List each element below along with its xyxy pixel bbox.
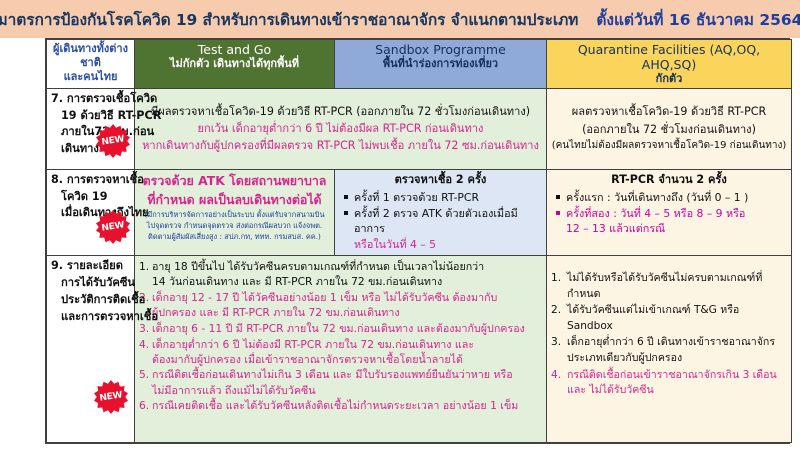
row-7-tng-line-2: ยกเว้น เด็กอายุต่ำกว่า 6 ปี ไม่ต้องมีผล … [139, 121, 542, 137]
header-sandbox: Sandbox Programme พื้นที่นำร่องการท่องเท… [335, 40, 547, 89]
row-8-quarantine: RT-PCR จำนวน 2 ครั้ง ครั้งแรก : วันที่เด… [547, 169, 792, 255]
row-9-item-5-line-2: ไม่มีอาการแล้ว ถึงแม้ไม่ได้รับวัคซีน [152, 383, 542, 398]
row-8-tng-head-2: ที่กำหนด ผลเป็นลบเดินทางต่อได้ [139, 191, 330, 209]
row-9-item-4: 4. เด็กอายุต่ำกว่า 6 ปี ไม่ต้องมี RT-PCR… [139, 337, 542, 367]
row-8-qua-item-2-tail: 12 – 13 แล้วแต่กรณี [566, 221, 787, 236]
row-9-qua-item-2-number: 2. [551, 303, 567, 319]
row-8-qua-item-2: ครั้งที่สอง : วันที่ 4 – 5 หรือ 8 – 9 หร… [555, 206, 787, 237]
row-9-item-3: 3. เด็กอายุ 6 - 11 ปี มี RT-PCR ภายใน 72… [139, 321, 542, 336]
effective-date: ตั้งแต่วันที่ 16 ธันวาคม 2564 [596, 7, 800, 32]
header-test-and-go-th: ไม่กักตัว เดินทางได้ทุกพื้นที่ [139, 57, 330, 71]
row-7-quarantine: ผลตรวจหาเชื้อโควิด-19 ด้วยวิธี RT-PCR (อ… [547, 88, 792, 169]
row-8-tng-fine-3: ติดตามผู้สัมผัสเสี่ยงสูง : สปภ.กท, ททท. … [139, 232, 330, 242]
row-7-label-line-1: 7. การตรวจเชื้อโควิด [51, 91, 130, 108]
row-9-qua-item-4-line-1: กรณีติดเชื้อก่อนเข้าราชอาณาจักรเกิน 3 เด… [567, 368, 787, 384]
table-body: 7. การตรวจเชื้อโควิด 19 ด้วยวิธี RT-PCR … [47, 88, 792, 442]
row-9-item-1: 1. อายุ 18 ปีขึ้นไป ได้รับวัคซีนครบตามเก… [139, 259, 542, 289]
row-9-item-4-line-2: ต้องมากับผู้ปกครอง เมื่อเข้าราชอาณาจักรต… [152, 352, 542, 367]
row-8-tng-fine-2: ไปจุดตรวจ กำหนดจุดตรวจ ส่งต่อกรณีผลบวก แ… [139, 221, 330, 231]
row-7-label-line-2: 19 ด้วยวิธี RT-PCR [51, 108, 130, 125]
header-quarantine-th: กักตัว [551, 72, 787, 86]
row-9-item-1-text: อายุ 18 ปีขึ้นไป ได้รับวัคซีนครบตามเกณฑ์… [152, 259, 542, 289]
header-traveler-category: ผู้เดินทางทั้งต่างชาติ และคนไทย [47, 40, 135, 89]
row-9-label-line-3: ประวัติการติดเชื้อ [51, 292, 130, 309]
row-9-item-2-line-1: เด็กอายุ 12 - 17 ปี ได้วัคซีนอย่างน้อย 1… [152, 290, 542, 305]
row-9-qua-item-2-line-1: ได้รับวัคซีนแต่ไม่เข้าเกณฑ์ T&G หรือ [567, 303, 787, 319]
row-9-item-1-line-1: อายุ 18 ปีขึ้นไป ได้รับวัคซีนครบตามเกณฑ์… [152, 259, 542, 274]
table-row-8: 8. การตรวจหาเชื้อ โควิด 19 เมื่อเดินทางถ… [47, 169, 792, 255]
row-9-label-line-2: การได้รับวัคซีน [51, 275, 130, 292]
row-7-tng-line-1: มีผลตรวจหาเชื้อโควิด-19 ด้วยวิธี RT-PCR … [139, 104, 542, 120]
row-9-qua-item-3-line-1: เด็กอายุต่ำกว่า 6 ปี เดินทางเข้าราชอาณาจ… [567, 335, 787, 351]
row-9-label: 9. รายละเอียด การได้รับวัคซีน ประวัติการ… [47, 256, 135, 443]
row-8-sbx-head: ตรวจหาเชื้อ 2 ครั้ง [339, 172, 542, 188]
row-8-quarantine-list: ครั้งแรก : วันที่เดินทางถึง (วันที่ 0 – … [551, 190, 787, 237]
row-9-item-3-number: 3. [139, 321, 152, 336]
row-9-qua-item-2-text: ได้รับวัคซีนแต่ไม่เข้าเกณฑ์ T&G หรือ San… [567, 303, 787, 334]
row-9-item-3-text: เด็กอายุ 6 - 11 ปี มี RT-PCR ภายใน 72 ขม… [152, 321, 542, 336]
row-9-item-5-number: 5. [139, 367, 152, 382]
header-row: ผู้เดินทางทั้งต่างชาติ และคนไทย Test and… [47, 40, 792, 89]
row-8-sandbox-list: ครั้งที่ 1 ตรวจด้วย RT-PCR ครั้งที่ 2 ตร… [339, 190, 542, 252]
measures-table-wrapper: ผู้เดินทางทั้งต่างชาติ และคนไทย Test and… [45, 38, 790, 444]
row-9-qua-item-3-text: เด็กอายุต่ำกว่า 6 ปี เดินทางเข้าราชอาณาจ… [567, 335, 787, 366]
row-8-qua-item-2-text: ครั้งที่สอง : วันที่ 4 – 5 หรือ 8 – 9 หร… [566, 207, 745, 220]
row-7-qua-line-1: ผลตรวจหาเชื้อโควิด-19 ด้วยวิธี RT-PCR [551, 104, 787, 120]
screenshot-page: มาตรการป้องกันโรคโควิด 19 สำหรับการเดินท… [0, 0, 800, 450]
row-9-item-4-number: 4. [139, 337, 152, 352]
row-9-qua-item-4-number: 4. [551, 368, 567, 384]
row-9-qua-item-3-line-2: ประเภทเดียวกับผู้ปกครอง [567, 351, 787, 367]
row-7-qua-line-3: (คนไทยไม่ต้องมีผลตรวจหาเชื้อโควิด-19 ก่อ… [551, 139, 787, 154]
new-badge-row-7: NEW [96, 124, 130, 158]
row-9-label-line-1: 9. รายละเอียด [51, 258, 130, 275]
table-row-7: 7. การตรวจเชื้อโควิด 19 ด้วยวิธี RT-PCR … [47, 88, 792, 169]
row-9-quarantine-list: 1. ไม่ได้รับหรือได้รับวัคซีนไม่ครบตามเกณ… [551, 271, 787, 399]
row-8-sbx-item-2-text: ครั้งที่ 2 ตรวจ ATK ด้วยตัวเองเมื่อมีอาก… [354, 207, 518, 235]
row-8-tng-fine-1: (มีการบริหารจัดการอย่างเป็นระบบ ตั้งแต่ร… [139, 210, 330, 220]
row-9-qua-item-4-line-2: และ ไม่ได้รับวัคซีน [567, 383, 787, 399]
header-sandbox-en: Sandbox Programme [339, 42, 542, 57]
row-9-item-1-number: 1. [139, 259, 152, 274]
row-8-tng-head-1: ตรวจด้วย ATK โดยสถานพยาบาล [139, 172, 330, 190]
row-8-label-line-1: 8. การตรวจหาเชื้อ [51, 172, 130, 189]
row-9-item-6: 6. กรณีเคยติดเชื้อ และได้รับวัคซีนหลังติ… [139, 398, 542, 413]
row-9-item-6-line-1: กรณีเคยติดเชื้อ และได้รับวัคซีนหลังติดเช… [152, 398, 542, 413]
page-title: มาตรการป้องกันโรคโควิด 19 สำหรับการเดินท… [0, 7, 578, 32]
row-9-label-line-4: และการตรวจหาเชื้อ [51, 309, 130, 326]
row-9-qua-item-3: 3. เด็กอายุต่ำกว่า 6 ปี เดินทางเข้าราชอา… [551, 335, 787, 366]
header-sandbox-th: พื้นที่นำร่องการท่องเที่ยว [339, 57, 542, 71]
new-badge-row-8: NEW [96, 210, 130, 244]
row-8-test-and-go: ตรวจด้วย ATK โดยสถานพยาบาล ที่กำหนด ผลเป… [135, 169, 335, 255]
header-test-and-go: Test and Go ไม่กักตัว เดินทางได้ทุกพื้นท… [135, 40, 335, 89]
row-9-test-and-go-sandbox: 1. อายุ 18 ปีขึ้นไป ได้รับวัคซีนครบตามเก… [135, 256, 547, 443]
table-row-9: 9. รายละเอียด การได้รับวัคซีน ประวัติการ… [47, 256, 792, 443]
new-badge-row-8-label: NEW [94, 208, 133, 247]
row-9-item-3-line-1: เด็กอายุ 6 - 11 ปี มี RT-PCR ภายใน 72 ขม… [152, 321, 542, 336]
row-9-qua-item-1-number: 1. [551, 271, 567, 287]
row-9-item-1-line-2: 14 วันก่อนเดินทาง และ มี RT-PCR ภายใน 72… [152, 274, 542, 289]
row-7-test-and-go-sandbox: มีผลตรวจหาเชื้อโควิด-19 ด้วยวิธี RT-PCR … [135, 88, 547, 169]
row-9-qua-item-3-number: 3. [551, 335, 567, 351]
measures-table: ผู้เดินทางทั้งต่างชาติ และคนไทย Test and… [46, 39, 792, 443]
row-8-sandbox: ตรวจหาเชื้อ 2 ครั้ง ครั้งที่ 1 ตรวจด้วย … [335, 169, 547, 255]
row-9-item-2-text: เด็กอายุ 12 - 17 ปี ได้วัคซีนอย่างน้อย 1… [152, 290, 542, 320]
row-9-item-6-text: กรณีเคยติดเชื้อ และได้รับวัคซีนหลังติดเช… [152, 398, 542, 413]
new-badge-row-9: NEW [94, 380, 128, 414]
header-traveler-line1: ผู้เดินทางทั้งต่างชาติ [51, 42, 130, 70]
row-9-qua-item-2: 2. ได้รับวัคซีนแต่ไม่เข้าเกณฑ์ T&G หรือ … [551, 303, 787, 334]
row-9-qua-item-2-line-2: Sandbox [567, 319, 787, 335]
row-9-item-5-line-1: กรณีติดเชื้อก่อนเดินทางไม่เกิน 3 เดือน แ… [152, 367, 542, 382]
row-9-item-2-line-2: ผู้ปกครอง และ มี RT-PCR ภายใน 72 ขม.ก่อน… [152, 305, 542, 320]
row-9-item-5: 5. กรณีติดเชื้อก่อนเดินทางไม่เกิน 3 เดือ… [139, 367, 542, 397]
header-test-and-go-en: Test and Go [139, 42, 330, 57]
row-7-tng-line-3: หากเดินทางกับผู้ปกครองที่มีผลตรวจ RT-PCR… [139, 138, 542, 154]
header-quarantine: Quarantine Facilities (AQ,OQ, AHQ,SQ) กั… [547, 40, 792, 89]
row-9-qua-item-4: 4. กรณีติดเชื้อก่อนเข้าราชอาณาจักรเกิน 3… [551, 368, 787, 399]
header-quarantine-en: Quarantine Facilities (AQ,OQ, AHQ,SQ) [551, 42, 787, 72]
row-9-merged-list: 1. อายุ 18 ปีขึ้นไป ได้รับวัคซีนครบตามเก… [139, 259, 542, 413]
new-badge-row-9-label: NEW [92, 378, 131, 417]
new-badge-row-7-label: NEW [94, 122, 133, 161]
row-8-sbx-item-2-tail: หรือในวันที่ 4 – 5 [354, 237, 542, 252]
row-9-qua-item-1-line-2: กำหนด [567, 287, 787, 303]
row-9-item-5-text: กรณีติดเชื้อก่อนเดินทางไม่เกิน 3 เดือน แ… [152, 367, 542, 397]
row-8-qua-item-1: ครั้งแรก : วันที่เดินทางถึง (วันที่ 0 – … [555, 190, 787, 205]
title-banner: มาตรการป้องกันโรคโควิด 19 สำหรับการเดินท… [0, 0, 800, 38]
row-8-sbx-item-2: ครั้งที่ 2 ตรวจ ATK ด้วยตัวเองเมื่อมีอาก… [343, 206, 542, 252]
row-8-qua-head: RT-PCR จำนวน 2 ครั้ง [551, 172, 787, 188]
row-9-qua-item-4-text: กรณีติดเชื้อก่อนเข้าราชอาณาจักรเกิน 3 เด… [567, 368, 787, 399]
row-7-qua-line-2: (ออกภายใน 72 ชั่วโมงก่อนเดินทาง) [551, 122, 787, 138]
table-header: ผู้เดินทางทั้งต่างชาติ และคนไทย Test and… [47, 40, 792, 89]
row-9-qua-item-1-line-1: ไม่ได้รับหรือได้รับวัคซีนไม่ครบตามเกณฑ์ท… [567, 271, 787, 287]
row-9-item-4-line-1: เด็กอายุต่ำกว่า 6 ปี ไม่ต้องมี RT-PCR ภา… [152, 337, 542, 352]
row-9-item-6-number: 6. [139, 398, 152, 413]
row-8-label-line-2: โควิด 19 [51, 189, 130, 206]
row-9-qua-item-1-text: ไม่ได้รับหรือได้รับวัคซีนไม่ครบตามเกณฑ์ท… [567, 271, 787, 302]
row-8-sbx-item-1: ครั้งที่ 1 ตรวจด้วย RT-PCR [343, 190, 542, 205]
row-9-item-2: 2. เด็กอายุ 12 - 17 ปี ได้วัคซีนอย่างน้อ… [139, 290, 542, 320]
row-9-item-4-text: เด็กอายุต่ำกว่า 6 ปี ไม่ต้องมี RT-PCR ภา… [152, 337, 542, 367]
header-traveler-line2: และคนไทย [51, 70, 130, 84]
row-9-quarantine: 1. ไม่ได้รับหรือได้รับวัคซีนไม่ครบตามเกณ… [547, 256, 792, 443]
row-9-qua-item-1: 1. ไม่ได้รับหรือได้รับวัคซีนไม่ครบตามเกณ… [551, 271, 787, 302]
